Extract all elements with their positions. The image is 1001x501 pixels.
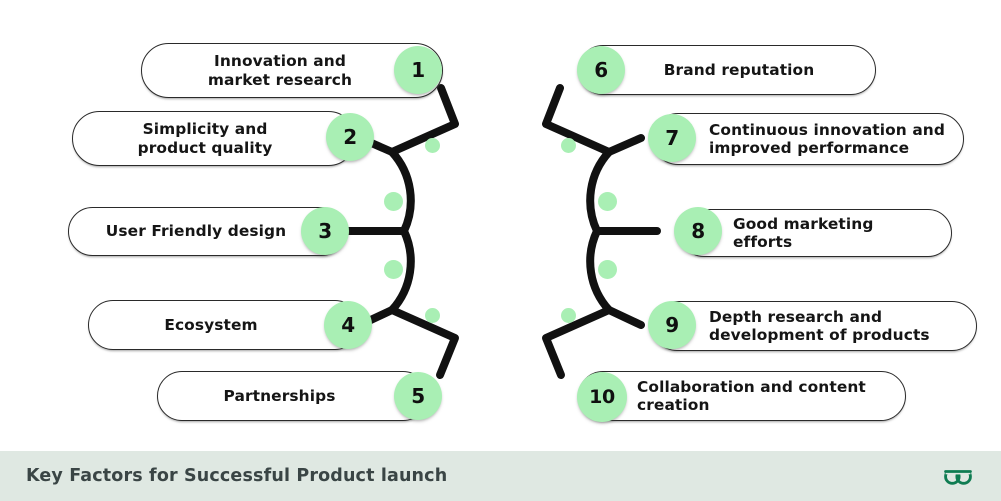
item-pill-5[interactable]: Partnerships	[157, 371, 428, 421]
item-number-2: 2	[343, 125, 357, 149]
item-pill-7[interactable]: Continuous innovation and improved perfo…	[652, 113, 964, 165]
item-node-5[interactable]: 5	[394, 372, 442, 420]
item-label-4: Ecosystem	[107, 316, 315, 334]
left-spur-5	[392, 310, 455, 375]
item-node-2[interactable]: 2	[326, 113, 374, 161]
item-node-3[interactable]: 3	[301, 207, 349, 255]
item-number-6: 6	[594, 58, 608, 82]
item-number-9: 9	[665, 313, 679, 337]
right-spur-6	[546, 88, 609, 152]
right-spur-9	[609, 310, 641, 325]
arc-dot-left-1	[425, 138, 440, 153]
item-label-2: Simplicity and product quality	[95, 120, 315, 156]
item-pill-4[interactable]: Ecosystem	[88, 300, 360, 350]
item-number-1: 1	[411, 58, 425, 82]
item-label-10: Collaboration and content creation	[637, 378, 887, 414]
right-spur-7	[609, 138, 641, 152]
item-label-9: Depth research and development of produc…	[709, 308, 958, 344]
item-label-7: Continuous innovation and improved perfo…	[709, 121, 945, 157]
arc-dot-left-2	[384, 192, 403, 211]
item-node-6[interactable]: 6	[577, 46, 625, 94]
item-node-8[interactable]: 8	[674, 207, 722, 255]
item-node-10[interactable]: 10	[577, 372, 627, 422]
arc-dot-right-1	[561, 138, 576, 153]
item-pill-2[interactable]: Simplicity and product quality	[72, 111, 356, 166]
item-number-3: 3	[318, 219, 332, 243]
item-number-5: 5	[411, 384, 425, 408]
geeksforgeeks-logo	[941, 463, 975, 489]
item-label-3: User Friendly design	[87, 222, 305, 240]
item-number-7: 7	[665, 126, 679, 150]
item-node-4[interactable]: 4	[324, 301, 372, 349]
item-number-4: 4	[341, 313, 355, 337]
arc-dot-left-4	[425, 308, 440, 323]
item-node-7[interactable]: 7	[648, 114, 696, 162]
item-pill-10[interactable]: Collaboration and content creation	[578, 371, 906, 421]
right-arc-group	[546, 88, 657, 375]
item-node-1[interactable]: 1	[394, 46, 442, 94]
arc-dot-left-3	[384, 260, 403, 279]
item-label-8: Good marketing efforts	[733, 215, 933, 251]
footer-bar: Key Factors for Successful Product launc…	[0, 451, 1001, 501]
arc-dot-right-3	[598, 260, 617, 279]
footer-title: Key Factors for Successful Product launc…	[26, 466, 447, 486]
item-pill-9[interactable]: Depth research and development of produc…	[652, 301, 977, 351]
arc-dot-right-2	[598, 192, 617, 211]
arc-dot-right-4	[561, 308, 576, 323]
item-label-6: Brand reputation	[625, 61, 853, 79]
diagram-canvas: Innovation and market research Simplicit…	[0, 0, 1001, 450]
item-node-9[interactable]: 9	[648, 301, 696, 349]
right-spur-10	[546, 310, 609, 375]
infographic-root: Innovation and market research Simplicit…	[0, 0, 1001, 501]
item-number-8: 8	[691, 219, 705, 243]
item-label-1: Innovation and market research	[164, 52, 396, 88]
item-number-10: 10	[589, 386, 615, 408]
item-label-5: Partnerships	[176, 387, 383, 405]
